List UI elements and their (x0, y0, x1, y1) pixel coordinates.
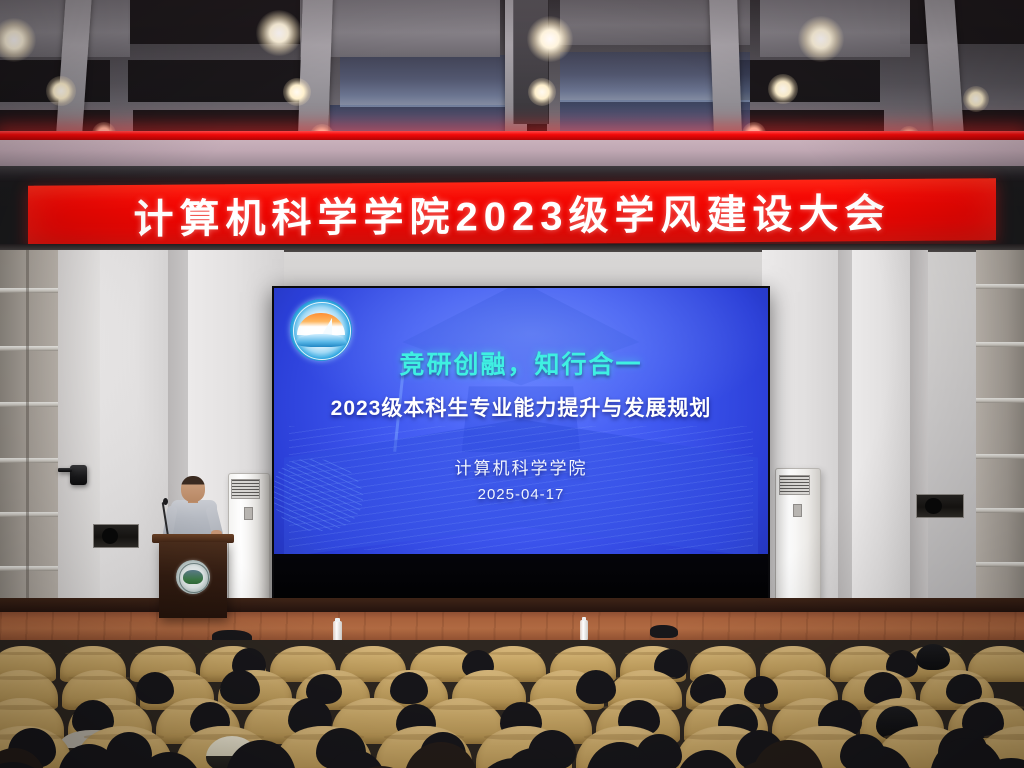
lectern (159, 542, 227, 618)
bag-on-floor (650, 625, 678, 638)
banner-title: 计算机科学学院2023级学风建设大会 (134, 181, 891, 245)
ac-grille (779, 475, 810, 496)
ac-display (793, 504, 802, 518)
upper-wall (0, 140, 1024, 166)
lectern-university-emblem (176, 560, 210, 594)
wall-mounted-speaker (70, 465, 87, 485)
auditorium-photo: 计算机科学学院2023级学风建设大会 (0, 0, 1024, 768)
floor-ac-unit-left (228, 473, 270, 612)
conference-banner: 计算机科学学院2023级学风建设大会 (28, 178, 996, 248)
recessed-wall-speaker (93, 524, 139, 548)
seated-attendee (390, 672, 428, 704)
wall-panel (852, 250, 912, 642)
seated-attendee (916, 644, 950, 670)
slide-organization: 计算机科学学院 (274, 454, 768, 479)
microphone-head (163, 498, 168, 505)
slide-date: 2025-04-17 (274, 486, 768, 503)
ac-display (244, 507, 252, 520)
presenter-head (181, 476, 205, 502)
acoustic-slat-wall (976, 250, 1024, 642)
ceiling-spotlight (283, 78, 311, 106)
led-presentation-screen: 竞研创融，知行合一 2023级本科生专业能力提升与发展规划 计算机科学学院 20… (272, 286, 770, 618)
recessed-wall-speaker (916, 494, 964, 518)
seated-attendee (136, 672, 174, 704)
wall-panel (910, 250, 928, 642)
ceiling-spotlight (963, 86, 989, 112)
ceiling-spotlight (256, 10, 302, 56)
emblem-ring (179, 563, 208, 592)
speaker-bracket (58, 468, 72, 472)
floor-ac-unit-right (775, 468, 821, 614)
ceiling-spotlight (768, 74, 798, 104)
stage-floor (0, 612, 1024, 642)
acoustic-slat-wall (0, 250, 58, 642)
slide-surface: 竞研创融，知行合一 2023级本科生专业能力提升与发展规划 计算机科学学院 20… (274, 288, 768, 616)
ceiling (0, 0, 1024, 152)
water-bottle (580, 620, 588, 640)
slide-subtitle: 2023级本科生专业能力提升与发展规划 (274, 392, 768, 422)
seated-attendee (576, 670, 616, 704)
wall-panel (58, 250, 100, 642)
ac-grille (231, 479, 259, 499)
ceiling-spotlight (528, 78, 556, 106)
ceiling-spotlight (46, 76, 76, 106)
seated-attendee (744, 676, 778, 704)
audience-seating-area (0, 640, 1024, 768)
slide-title: 竞研创融，知行合一 (274, 345, 768, 381)
ceiling-spotlight (798, 16, 844, 62)
ceiling-spotlight (527, 16, 573, 62)
seated-attendee (220, 670, 260, 704)
ceiling-led-strip (0, 131, 1024, 140)
